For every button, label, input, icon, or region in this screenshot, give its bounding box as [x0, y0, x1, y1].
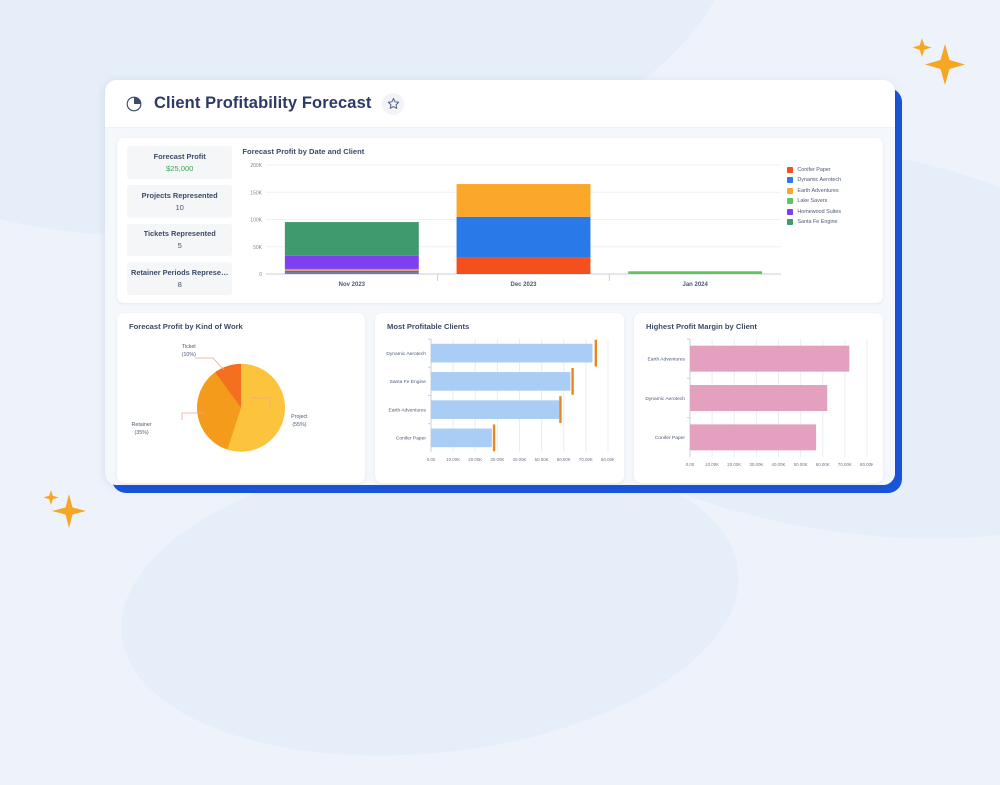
- bar-segment-lake-savers[interactable]: [629, 271, 763, 274]
- y-axis-category-label: Conifer Paper: [655, 435, 686, 441]
- page-title: Client Profitability Forecast: [154, 94, 371, 113]
- kpi-label: Retainer Periods Represe…: [131, 268, 228, 277]
- y-axis-tick-label: 100K: [251, 218, 263, 224]
- x-axis-tick-label: 30.00K: [749, 462, 763, 467]
- x-axis-tick-label: 30.00K: [490, 457, 504, 462]
- kpi-label: Tickets Represented: [144, 229, 216, 238]
- x-axis-tick-label: 80.00K: [601, 457, 614, 462]
- chart-legend: Conifer PaperDynamic AerotechEarth Adven…: [781, 161, 873, 295]
- legend-swatch: [787, 177, 793, 183]
- margin-plot-area[interactable]: 0.0010.00K20.00K30.00K40.00K50.00K60.00K…: [644, 336, 873, 475]
- x-axis-tick-label: 60.00K: [816, 462, 830, 467]
- legend-label: Dynamic Aerotech: [797, 177, 841, 183]
- legend-item[interactable]: Homewood Suites: [787, 209, 873, 215]
- chart-forecast-profit-by-date-and-client: Forecast Profit by Date and Client 050K1…: [240, 146, 873, 295]
- legend-item[interactable]: Earth Adventures: [787, 188, 873, 194]
- chart-most-profitable-clients: Most Profitable Clients 0.0010.00K20.00K…: [375, 313, 624, 483]
- kpi-card-projects-represented[interactable]: Projects Represented 10: [127, 185, 232, 218]
- legend-item[interactable]: Dynamic Aerotech: [787, 177, 873, 183]
- dashboard-canvas: Forecast Profit $25,000 Projects Represe…: [105, 128, 895, 485]
- bar-segment-dynamic-aerotech[interactable]: [457, 217, 591, 258]
- sparkle-icon-bottom-left: [38, 483, 92, 537]
- legend-label: Conifer Paper: [797, 167, 830, 173]
- x-axis-tick-label: 20.00K: [468, 457, 482, 462]
- pie-label-name: Retainer: [132, 422, 152, 428]
- bullet-plot-area[interactable]: 0.0010.00K20.00K30.00K40.00K50.00K60.00K…: [385, 336, 614, 475]
- x-axis-tick-label: 10.00K: [446, 457, 460, 462]
- bar-conifer-paper[interactable]: [690, 424, 816, 450]
- legend-swatch: [787, 198, 793, 204]
- pie-label-name: Ticket: [182, 344, 196, 350]
- target-marker-santa-fe-engine[interactable]: [571, 368, 573, 395]
- legend-item[interactable]: Lake Savers: [787, 198, 873, 204]
- bar-earth-adventures[interactable]: [431, 400, 559, 419]
- horizontal-bar-svg: 0.0010.00K20.00K30.00K40.00K50.00K60.00K…: [385, 336, 614, 465]
- pie-slices[interactable]: [197, 363, 285, 451]
- kpi-value: 8: [178, 280, 182, 289]
- x-axis-tick-label: Dec 2023: [511, 282, 538, 288]
- bar-segment-lake-savers[interactable]: [285, 269, 419, 270]
- dashboard-window: Client Profitability Forecast Forecast P…: [105, 80, 895, 485]
- bar-santa-fe-engine[interactable]: [431, 372, 570, 391]
- bar-conifer-paper[interactable]: [431, 429, 492, 448]
- pie-label-percent: (10%): [182, 352, 196, 358]
- kpi-value: $25,000: [166, 164, 193, 173]
- favorite-star-button[interactable]: [382, 93, 404, 115]
- kpi-card-retainer-periods-represented[interactable]: Retainer Periods Represe… 8: [127, 262, 232, 295]
- bar-segment-homewood-suites[interactable]: [285, 256, 419, 269]
- kpi-card-group: Forecast Profit $25,000 Projects Represe…: [127, 146, 240, 295]
- legend-swatch: [787, 167, 793, 173]
- y-axis-tick-label: 50K: [253, 245, 263, 251]
- y-axis-category-label: Earth Adventures: [647, 356, 685, 362]
- chart-title: Forecast Profit by Kind of Work: [129, 322, 355, 331]
- legend-swatch: [787, 188, 793, 194]
- chart-title: Most Profitable Clients: [387, 322, 614, 331]
- bottom-chart-row: Forecast Profit by Kind of Work Project(…: [117, 313, 883, 483]
- y-axis-tick-label: 0: [260, 272, 263, 278]
- stacked-bar-svg: 050K100K150K200KNov 2023Dec 2023Jan 2024: [240, 161, 781, 290]
- x-axis-tick-label: 0.00: [427, 457, 436, 462]
- legend-label: Lake Savers: [797, 198, 827, 204]
- legend-item[interactable]: Conifer Paper: [787, 167, 873, 173]
- kpi-label: Projects Represented: [142, 191, 218, 200]
- x-axis-tick-label: 10.00K: [705, 462, 719, 467]
- y-axis-category-label: Earth Adventures: [388, 407, 426, 413]
- kpi-value: 5: [178, 241, 182, 250]
- bar-segment-conifer-paper[interactable]: [285, 273, 419, 274]
- x-axis-tick-label: 60.00K: [557, 457, 571, 462]
- pie-label-project: Project(55%): [291, 414, 308, 429]
- horizontal-bar-svg: 0.0010.00K20.00K30.00K40.00K50.00K60.00K…: [644, 336, 873, 470]
- kpi-card-forecast-profit[interactable]: Forecast Profit $25,000: [127, 146, 232, 179]
- bar-segment-dynamic-aerotech[interactable]: [285, 271, 419, 273]
- pie-label-retainer: Retainer(35%): [132, 422, 152, 437]
- y-axis-category-label: Dynamic Aerotech: [386, 351, 426, 357]
- chart-title: Forecast Profit by Date and Client: [242, 147, 873, 156]
- target-marker-earth-adventures[interactable]: [559, 396, 561, 423]
- x-axis-tick-label: 40.00K: [772, 462, 786, 467]
- kpi-value: 10: [175, 203, 183, 212]
- chart-forecast-profit-by-kind-of-work: Forecast Profit by Kind of Work Project(…: [117, 313, 365, 483]
- x-axis-tick-label: 80.00K: [860, 462, 873, 467]
- x-axis-tick-label: 50.00K: [535, 457, 549, 462]
- legend-item[interactable]: Santa Fe Engine: [787, 219, 873, 225]
- pie-label-percent: (55%): [292, 422, 306, 428]
- legend-swatch: [787, 219, 793, 225]
- pie-label-ticket: Ticket(10%): [182, 344, 196, 359]
- legend-label: Santa Fe Engine: [797, 219, 837, 225]
- bar-earth-adventures[interactable]: [690, 346, 849, 372]
- pie-chart-icon: [125, 95, 143, 113]
- target-marker-conifer-paper[interactable]: [493, 424, 495, 451]
- target-marker-dynamic-aerotech[interactable]: [595, 340, 597, 367]
- x-axis-tick-label: Nov 2023: [339, 282, 366, 288]
- x-axis-tick-label: 20.00K: [727, 462, 741, 467]
- y-axis-tick-label: 200K: [251, 163, 263, 169]
- chart-highest-profit-margin-by-client: Highest Profit Margin by Client 0.0010.0…: [634, 313, 883, 483]
- pie-label-name: Project: [291, 414, 308, 420]
- x-axis-tick-label: 0.00: [686, 462, 695, 467]
- x-axis-tick-label: 50.00K: [794, 462, 808, 467]
- legend-swatch: [787, 209, 793, 215]
- bar-segment-santa-fe-engine[interactable]: [285, 222, 419, 256]
- dashboard-titlebar: Client Profitability Forecast: [105, 80, 895, 128]
- bar-segment-conifer-paper[interactable]: [457, 258, 591, 274]
- panel-forecast-overview: Forecast Profit $25,000 Projects Represe…: [117, 138, 883, 303]
- y-axis-category-label: Dynamic Aerotech: [645, 396, 685, 402]
- sparkle-icon-top-right: [905, 30, 967, 92]
- legend-label: Homewood Suites: [797, 209, 841, 215]
- star-outline-icon: [387, 97, 400, 110]
- kpi-label: Forecast Profit: [154, 152, 206, 161]
- y-axis-tick-label: 150K: [251, 190, 263, 196]
- pie-label-percent: (35%): [134, 430, 148, 436]
- legend-label: Earth Adventures: [797, 188, 838, 194]
- x-axis-tick-label: 40.00K: [513, 457, 527, 462]
- kpi-card-tickets-represented[interactable]: Tickets Represented 5: [127, 224, 232, 257]
- x-axis-tick-label: 70.00K: [838, 462, 852, 467]
- bar-dynamic-aerotech[interactable]: [690, 385, 827, 411]
- pie-plot-area[interactable]: Project(55%)Retainer(35%)Ticket(10%): [127, 336, 355, 475]
- y-axis-category-label: Santa Fe Engine: [390, 379, 427, 385]
- y-axis-category-label: Conifer Paper: [396, 436, 427, 442]
- chart-title: Highest Profit Margin by Client: [646, 322, 873, 331]
- x-axis-tick-label: Jan 2024: [683, 282, 709, 288]
- x-axis-tick-label: 70.00K: [579, 457, 593, 462]
- stacked-bar-plot-area[interactable]: 050K100K150K200KNov 2023Dec 2023Jan 2024: [240, 161, 781, 295]
- bar-dynamic-aerotech[interactable]: [431, 344, 593, 363]
- bar-segment-earth-adventures[interactable]: [457, 184, 591, 217]
